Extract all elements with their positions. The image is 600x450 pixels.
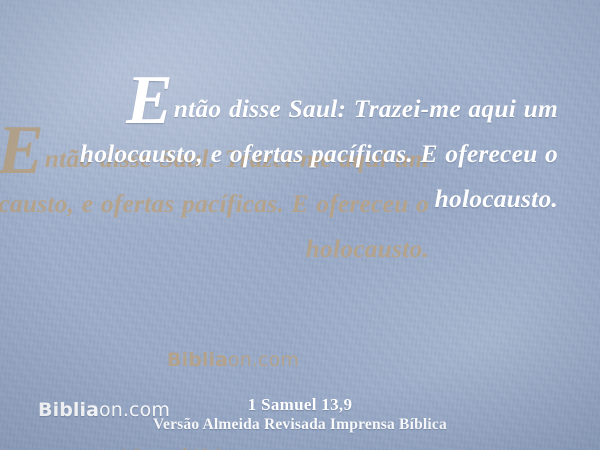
brand-strong-ghost: Biblia: [167, 349, 228, 371]
footer: Bibliaon.com 1 Samuel 13,9 Versão Almeid…: [0, 380, 600, 450]
verse-dropcap-ghost: E: [0, 112, 45, 189]
verse-card: Então disse Saul: Trazei-me aqui um holo…: [0, 0, 600, 450]
verse-reference-ghost: 1 Samuel 13,9: [0, 444, 471, 450]
brand-light-ghost: on.com: [228, 349, 299, 371]
bible-version: Versão Almeida Revisada Imprensa Bíblica: [0, 415, 600, 435]
verse-text-ghost: Então disse Saul: Trazei-me aqui um holo…: [0, 136, 451, 271]
brand-logo-ghost: Bibliaon.com: [167, 349, 299, 371]
reference-block-ghost: 1 Samuel 13,9 Versão Almeida Revisada Im…: [0, 444, 471, 450]
verse-body: ntão disse Saul: Trazei-me aqui um holoc…: [80, 94, 558, 213]
reference-block: 1 Samuel 13,9 Versão Almeida Revisada Im…: [0, 394, 600, 435]
verse-dropcap: E: [126, 62, 174, 139]
verse-text: Então disse Saul: Trazei-me aqui um holo…: [20, 86, 580, 221]
verse-reference: 1 Samuel 13,9: [0, 394, 600, 415]
verse-body-ghost: ntão disse Saul: Trazei-me aqui um holoc…: [0, 144, 429, 263]
